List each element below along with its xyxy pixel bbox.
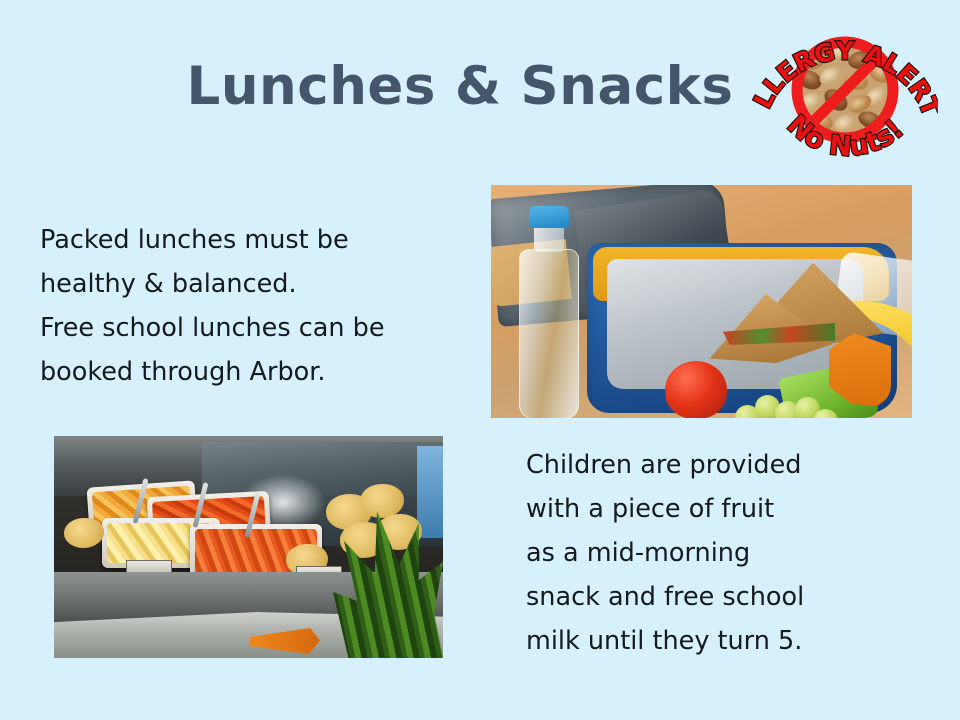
allergy-alert-badge: ALLERGY ALERT! No Nuts! (752, 8, 938, 176)
apple (665, 361, 727, 418)
fruit-snack-text: Children are provided with a piece of fr… (526, 443, 926, 663)
lunchbox-body (587, 243, 897, 413)
bottle-cap (529, 206, 569, 228)
grapes (735, 393, 839, 418)
canteen-photo (54, 436, 443, 658)
blue-curtain (417, 446, 443, 538)
bottle-neck (534, 224, 564, 252)
slide-canvas: Lunches & Snacks (0, 0, 960, 720)
packed-lunches-text: Packed lunches must be healthy & balance… (40, 218, 470, 394)
water-bottle (519, 249, 579, 418)
lunchbox-photo (491, 185, 912, 418)
page-title: Lunches & Snacks (160, 56, 760, 117)
